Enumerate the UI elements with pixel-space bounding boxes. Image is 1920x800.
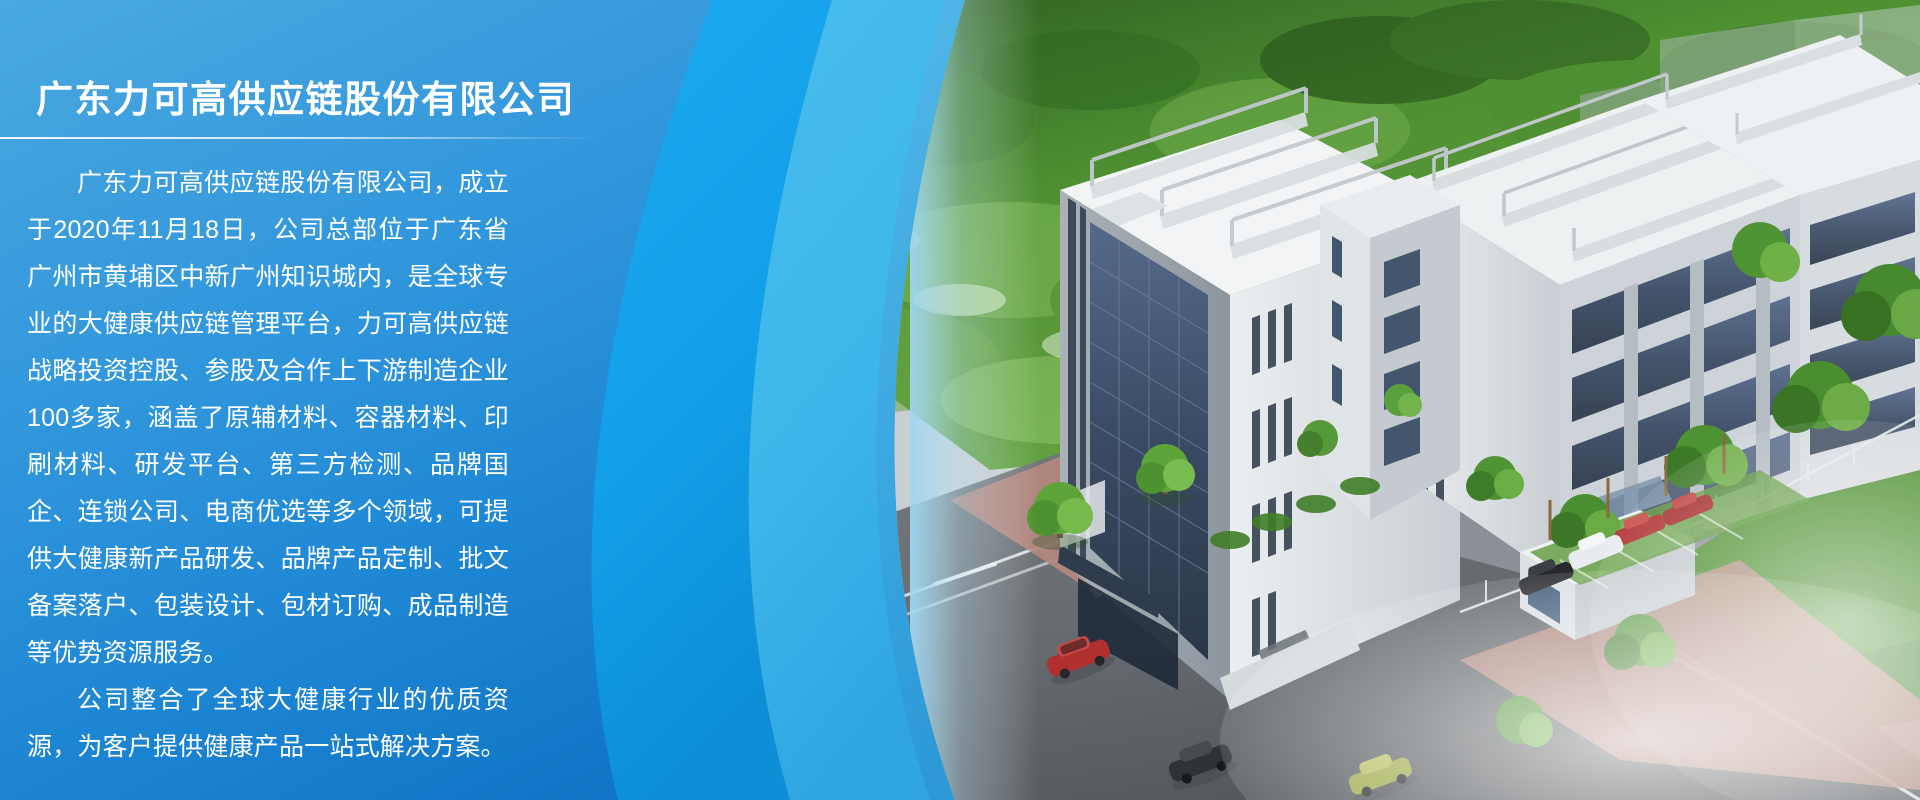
photo-left-fade [910,0,1340,800]
connector-block [1320,175,1460,520]
campus-rendering-photo [760,0,1920,800]
company-intro-banner: 广东力可高供应链股份有限公司 广东力可高供应链股份有限公司，成立于2020年11… [0,0,1920,800]
intro-paragraph-1: 广东力可高供应链股份有限公司，成立于2020年11月18日，公司总部位于广东省广… [27,160,509,677]
intro-paragraph-2: 公司整合了全球大健康行业的优质资源，为客户提供健康产品一站式解决方案。 [27,677,509,771]
intro-text-panel: 广东力可高供应链股份有限公司 广东力可高供应链股份有限公司，成立于2020年11… [0,0,640,800]
company-intro-text: 广东力可高供应链股份有限公司，成立于2020年11月18日，公司总部位于广东省广… [27,160,509,771]
page-title: 广东力可高供应链股份有限公司 [36,77,596,123]
title-divider [0,137,600,139]
